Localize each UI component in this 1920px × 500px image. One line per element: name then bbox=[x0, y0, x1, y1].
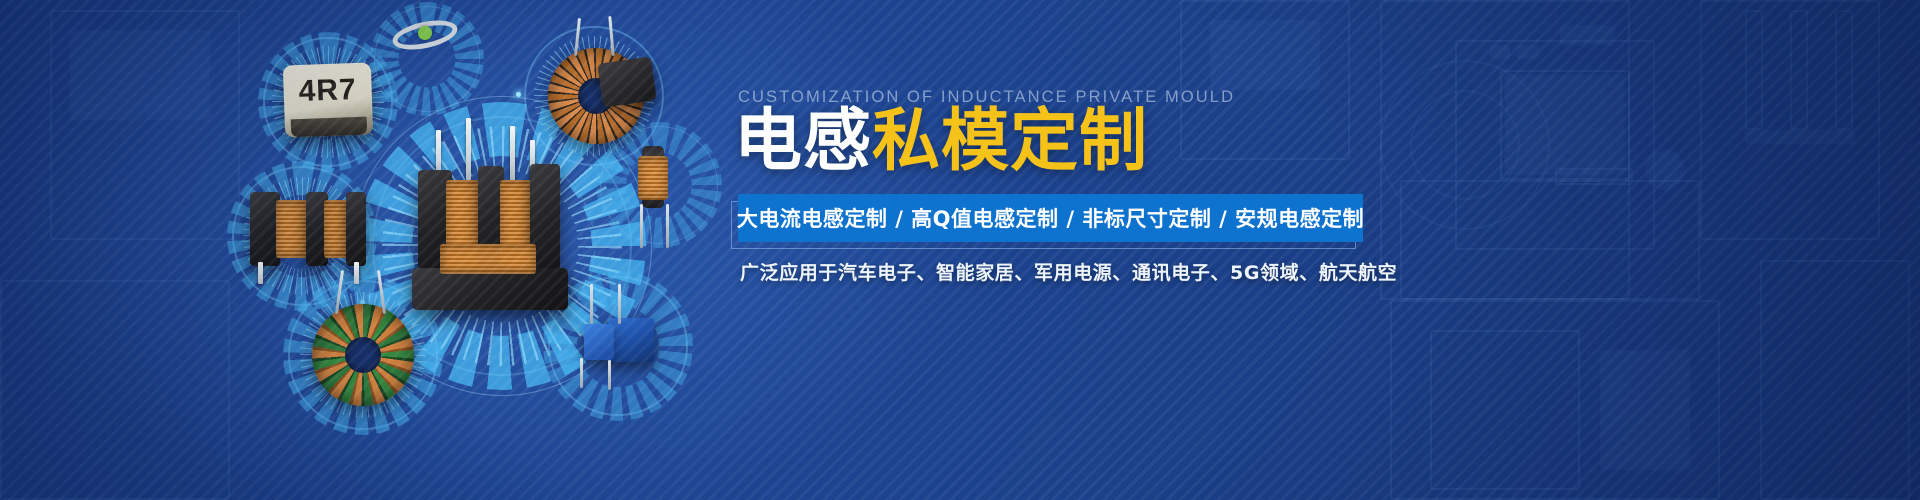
transformer-pin bbox=[510, 126, 515, 182]
rod-copper-winding bbox=[638, 156, 668, 200]
product-toroid-inductor-bottom bbox=[312, 304, 414, 406]
rod-lead bbox=[640, 204, 643, 248]
blue-part-lead bbox=[608, 360, 611, 390]
blue-part-lead bbox=[580, 358, 583, 388]
blue-part-body bbox=[608, 318, 654, 362]
banner-headline: 电感私模定制 bbox=[734, 108, 1148, 176]
coil-pin bbox=[258, 262, 263, 284]
headline-white-part: 电感 bbox=[734, 102, 872, 181]
feature-bar-text: 大电流电感定制 / 高Q值电感定制 / 非标尺寸定制 / 安规电感定制 bbox=[737, 203, 1364, 233]
blue-part-lead bbox=[590, 284, 593, 324]
blue-part-lead bbox=[618, 284, 621, 324]
feature-bar-wrapper: 大电流电感定制 / 高Q值电感定制 / 非标尺寸定制 / 安规电感定制 bbox=[738, 194, 1363, 242]
toroid-center-hole bbox=[345, 337, 381, 373]
smd-chip-label: 4R7 bbox=[283, 72, 372, 109]
coil-pin bbox=[354, 262, 359, 284]
transformer-copper-winding bbox=[440, 244, 536, 274]
smd-chip-body: 4R7 bbox=[283, 62, 373, 137]
blue-part-body bbox=[584, 324, 614, 360]
coil-bobbin bbox=[346, 192, 366, 266]
banner-text-content: CUSTOMIZATION OF INDUCTANCE PRIVATE MOUL… bbox=[738, 0, 1868, 500]
transformer-core-block bbox=[412, 268, 568, 310]
coil-copper-winding bbox=[276, 200, 310, 258]
banner-description: 广泛应用于汽车电子、智能家居、军用电源、通讯电子、5G领域、航天航空 bbox=[740, 258, 1397, 285]
feature-bar: 大电流电感定制 / 高Q值电感定制 / 非标尺寸定制 / 安规电感定制 bbox=[738, 194, 1363, 242]
transformer-pin bbox=[466, 118, 471, 180]
product-toroid-black-shell bbox=[600, 60, 654, 104]
rod-lead bbox=[666, 204, 669, 248]
headline-gold-part: 私模定制 bbox=[872, 102, 1148, 181]
product-banner: 4R7 bbox=[0, 0, 1920, 500]
